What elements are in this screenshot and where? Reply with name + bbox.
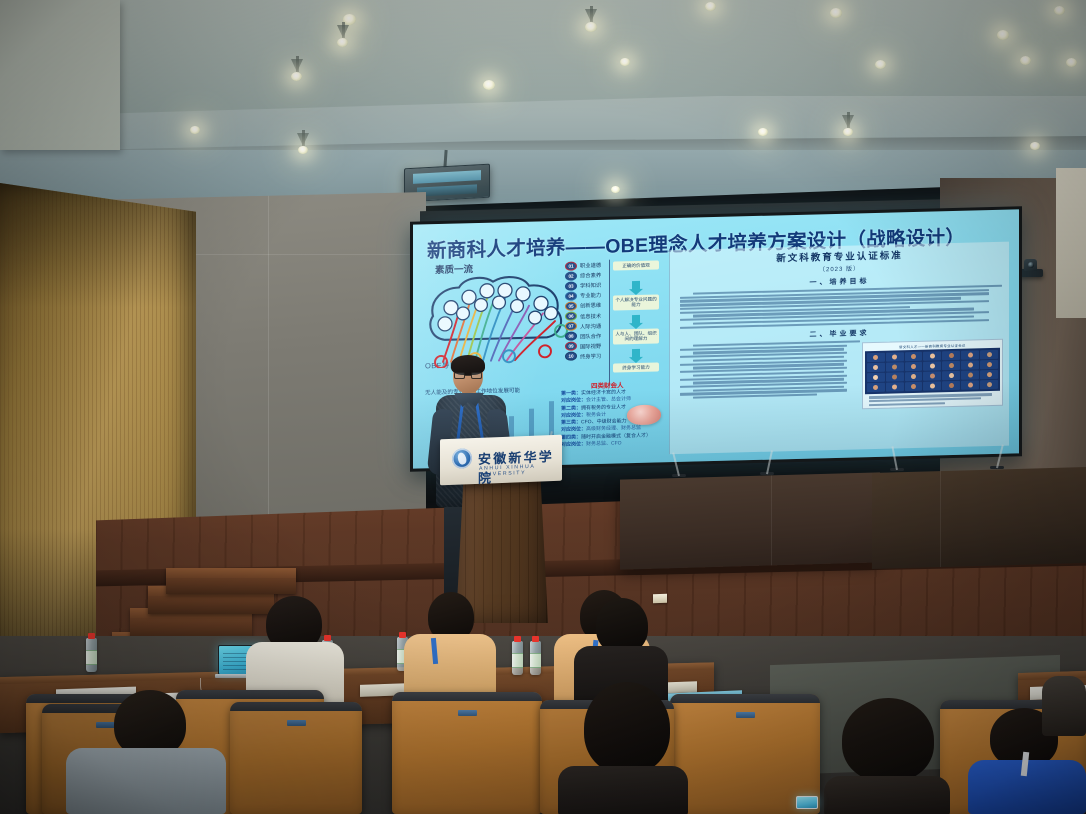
- meeting-participant-tile: [923, 362, 941, 371]
- university-logo-icon: [452, 448, 472, 469]
- desk-seam: [771, 475, 772, 565]
- category-label: 第四类：: [561, 434, 581, 441]
- competency-label: 综合素养: [580, 271, 601, 280]
- category-text: 会计主管、总会计师: [586, 396, 631, 403]
- auditorium-seat[interactable]: [392, 692, 542, 814]
- pendant-light-cone: [337, 25, 349, 38]
- participant-avatar-icon: [968, 383, 973, 388]
- meeting-participant-tile: [886, 363, 904, 372]
- meeting-screenshot-thumbnail: 新文科人才——新商科教育专业认证会议: [862, 339, 1003, 410]
- person-dark-hair-center: [558, 682, 690, 814]
- category-text: 财务总监、CFO: [586, 440, 622, 447]
- category-text: CFO、中级财会能力: [581, 418, 627, 425]
- competency-label: 国际视野: [580, 342, 601, 351]
- participant-avatar-icon: [968, 363, 973, 368]
- competency-number: 01: [565, 261, 577, 270]
- person-hair: [842, 698, 934, 782]
- competency-label: 专业能力: [580, 291, 601, 300]
- ceiling-light-icon: [1066, 58, 1077, 67]
- competency-tree-diagram: [425, 268, 581, 368]
- participant-avatar-icon: [930, 384, 935, 389]
- participant-avatar-icon: [949, 383, 954, 388]
- water-bottle: [512, 641, 523, 675]
- meeting-participant-tile: [923, 372, 941, 381]
- participant-avatar-icon: [892, 375, 897, 380]
- ceiling-light-icon: [830, 8, 842, 18]
- lecture-hall-photo: 新商科人才培养——OBE理念人才培养方案设计（战略设计） 素质一流 OBE导向: [0, 0, 1086, 814]
- competency-group-box: 终身学习能力: [613, 362, 659, 372]
- meeting-participant-tile: [886, 353, 904, 362]
- pendant-light-cone: [291, 59, 303, 72]
- ceiling-light-icon: [997, 30, 1009, 40]
- participant-avatar-icon: [949, 373, 954, 378]
- meeting-participant-tile: [961, 351, 979, 360]
- text-line: [869, 402, 945, 406]
- participant-avatar-icon: [968, 353, 973, 358]
- group-flow-arrow-icon: [632, 349, 640, 358]
- meeting-participant-tile: [961, 371, 979, 380]
- category-label: 第三类：: [561, 419, 581, 426]
- competency-number: 07: [565, 322, 577, 331]
- meeting-participant-tile: [942, 361, 960, 370]
- competency-number: 10: [565, 352, 577, 361]
- participant-avatar-icon: [949, 363, 954, 368]
- competency-number: 03: [565, 281, 577, 290]
- competency-group-box: 个人解决专业问题的能力: [613, 294, 659, 310]
- group-flow-arrow-icon: [632, 281, 640, 290]
- category-row: 对应岗位：财务总监、CFO: [561, 439, 665, 449]
- auditorium-seat[interactable]: [230, 702, 362, 814]
- group-flow-arrow-icon: [632, 315, 640, 324]
- competency-label: 创新思维: [580, 301, 601, 310]
- meeting-participant-tile: [867, 363, 885, 372]
- document-thumbnail-column: 新文科人才——新商科教育专业认证会议: [862, 337, 1003, 410]
- category-text: 高级财务经理、财务总监: [586, 425, 641, 432]
- category-label: 对应岗位：: [561, 398, 586, 405]
- participant-avatar-icon: [930, 374, 935, 379]
- far-right-wall: [1056, 168, 1086, 318]
- person-torso: [66, 748, 226, 814]
- participant-avatar-icon: [873, 375, 878, 380]
- category-label: 第二类：: [561, 405, 581, 412]
- competency-label: 信息技术: [580, 311, 601, 320]
- video-meeting-grid: [865, 348, 1000, 394]
- meeting-participant-tile: [905, 372, 923, 381]
- stage-desk-right: [872, 467, 1086, 569]
- meeting-participant-tile: [980, 370, 998, 379]
- ceiling-light-icon: [875, 60, 886, 69]
- participant-avatar-icon: [930, 354, 935, 359]
- participant-avatar-icon: [911, 354, 916, 359]
- competency-number: 09: [565, 342, 577, 351]
- seat-number-tag: [287, 720, 306, 726]
- participant-avatar-icon: [873, 385, 878, 390]
- participant-avatar-icon: [911, 384, 916, 389]
- water-bottle: [530, 641, 541, 675]
- meeting-participant-tile: [942, 351, 960, 360]
- seat-number-tag: [458, 710, 477, 716]
- group-bracket-line: [609, 260, 610, 386]
- meeting-participant-tile: [886, 383, 904, 392]
- participant-avatar-icon: [873, 365, 878, 370]
- participant-avatar-icon: [892, 365, 897, 370]
- meeting-participant-tile: [905, 382, 923, 391]
- person-torso: [824, 776, 950, 814]
- meeting-participant-tile: [980, 360, 998, 369]
- competency-label: 职业道德: [580, 261, 601, 270]
- person-seated-center-back: [404, 592, 498, 706]
- category-text: 随时开启金融模式（复合人才）: [581, 432, 651, 440]
- participant-avatar-icon: [911, 374, 916, 379]
- seat-number-tag: [736, 712, 755, 718]
- category-label: 对应岗位：: [561, 412, 586, 419]
- category-label: 对应岗位：: [561, 427, 586, 434]
- pendant-light-cone: [297, 133, 309, 146]
- meeting-participant-tile: [905, 352, 923, 361]
- meeting-participant-tile: [980, 380, 998, 389]
- podium-signboard: 安徽新华学院 ANHUI XINHUA UNIVERSITY: [440, 435, 562, 486]
- competency-list: 01职业道德02综合素养03学科知识04专业能力05创新思维06信息技术07人际…: [565, 259, 627, 362]
- meeting-participant-tile: [942, 371, 960, 380]
- category-label: 对应岗位：: [561, 441, 586, 448]
- competency-list-item: 10终身学习: [565, 350, 627, 362]
- meeting-participant-tile: [867, 353, 885, 362]
- ceiling-light-icon: [343, 14, 356, 25]
- ceiling-light-icon: [483, 80, 495, 90]
- person-far-right-edge: [1042, 676, 1086, 736]
- person-torso: [558, 766, 688, 814]
- participant-avatar-icon: [930, 364, 935, 369]
- competency-number: 02: [565, 271, 577, 280]
- category-text: 实体经济卡宫的人才: [581, 389, 626, 396]
- ceiling-light-icon: [585, 22, 597, 32]
- ceiling-light-icon: [1054, 6, 1065, 15]
- document-body-2: [676, 340, 856, 414]
- competency-number: 05: [565, 301, 577, 310]
- meeting-participant-tile: [923, 382, 941, 391]
- camera-lens-icon: [1028, 262, 1034, 268]
- participant-avatar-icon: [911, 364, 916, 369]
- category-label: 第一类：: [561, 390, 581, 397]
- ceiling-light-icon: [291, 72, 302, 81]
- competency-group-box: 人与人、团队、组织间的理解力: [613, 328, 659, 344]
- competency-group-box: 正确的价值观: [613, 260, 659, 270]
- participant-avatar-icon: [892, 385, 897, 390]
- participant-avatar-icon: [892, 355, 897, 360]
- competency-label: 团队合作: [580, 332, 601, 341]
- category-text: 税务会计: [586, 412, 606, 419]
- participant-avatar-icon: [987, 352, 992, 357]
- person-phone-user: [824, 698, 952, 814]
- competency-number: 06: [565, 312, 577, 321]
- stage-desk-left: [620, 472, 880, 569]
- slide-document-panel: 新文科教育专业认证标准 （2023 版） 一、培养目标 二、毕业要求: [669, 242, 1009, 455]
- four-categories-list: 第一类：实体经济卡宫的人才对应岗位：会计主管、总会计师第二类：拥有税务的专业人才…: [561, 388, 665, 449]
- pendant-light-cone: [842, 115, 854, 128]
- glasses-icon: [454, 372, 482, 379]
- ceiling-soffit-left: [0, 0, 120, 150]
- ceiling-light-icon: [337, 38, 348, 47]
- participant-avatar-icon: [968, 373, 973, 378]
- meeting-participant-tile: [961, 381, 979, 390]
- desk-seam: [940, 471, 941, 567]
- person-front-left-grey-shirt: [66, 690, 226, 814]
- meeting-participant-tile: [923, 352, 941, 361]
- competency-label: 终身学习: [580, 352, 601, 361]
- participant-avatar-icon: [873, 355, 878, 360]
- competency-label: 人际沟通: [580, 322, 601, 331]
- meeting-participant-tile: [942, 381, 960, 390]
- water-bottle: [86, 638, 97, 672]
- competency-label: 学科知识: [580, 281, 601, 290]
- category-text: 拥有税务的专业人才: [581, 404, 626, 411]
- smartphone-screen[interactable]: [796, 796, 818, 809]
- participant-avatar-icon: [987, 362, 992, 367]
- meeting-participant-tile: [905, 362, 923, 371]
- ceiling-light-icon: [705, 2, 716, 11]
- participant-avatar-icon: [949, 353, 954, 358]
- meeting-participant-tile: [867, 373, 885, 382]
- participant-avatar-icon: [987, 372, 992, 377]
- meeting-participant-tile: [980, 350, 998, 359]
- person-hair: [584, 682, 670, 774]
- meeting-participant-tile: [867, 383, 885, 392]
- pendant-light-cone: [585, 9, 597, 22]
- participant-avatar-icon: [987, 382, 992, 387]
- meeting-participant-tile: [961, 361, 979, 370]
- ceiling-light-icon: [1020, 56, 1031, 65]
- document-body-1: [676, 285, 1003, 329]
- meeting-participant-tile: [886, 373, 904, 382]
- document-columns: 新文科人才——新商科教育专业认证会议: [676, 337, 1003, 415]
- competency-number: 08: [565, 332, 577, 341]
- person-torso: [1042, 676, 1086, 736]
- competency-number: 04: [565, 291, 577, 300]
